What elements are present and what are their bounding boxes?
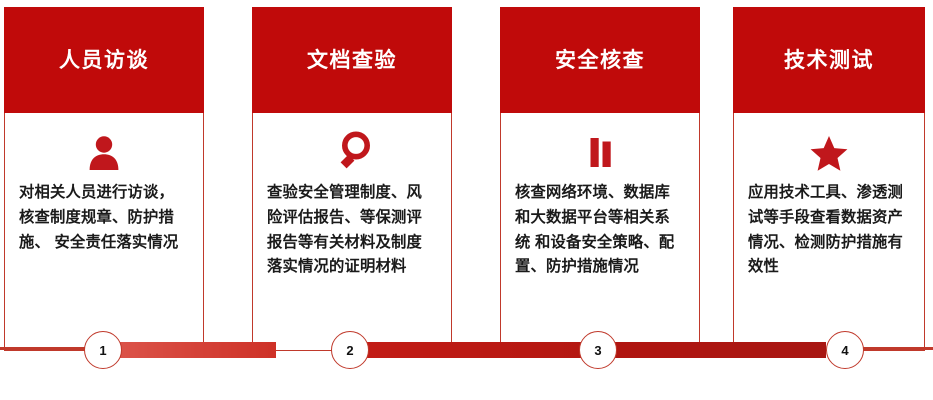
- step-text-4: 应用技术工具、渗透测试等手段查看数据资产情况、检测防护措施有效性: [748, 181, 910, 280]
- process-diagram: 人员访谈 对相关人员进行访谈，核查制度规章、防护措施、 安全责任落实情况 文档查…: [0, 0, 933, 400]
- step-body-2: 查验安全管理制度、风险评估报告、等保测评报告等有关材料及制度落实情况的证明材料: [252, 113, 452, 351]
- step-text-1: 对相关人员进行访谈，核查制度规章、防护措施、 安全责任落实情况: [19, 181, 189, 255]
- step-number-4: 4: [841, 344, 848, 357]
- step-title-4: 技术测试: [784, 50, 874, 71]
- rail-segment-3-4: [614, 342, 826, 358]
- step-body-4: 应用技术工具、渗透测试等手段查看数据资产情况、检测防护措施有效性: [733, 113, 925, 351]
- step-text-2: 查验安全管理制度、风险评估报告、等保测评报告等有关材料及制度落实情况的证明材料: [267, 181, 437, 280]
- rail-segment-1-2: [118, 342, 276, 358]
- step-header-3: 安全核查: [500, 7, 700, 113]
- step-number-3: 3: [594, 344, 601, 357]
- step-body-1: 对相关人员进行访谈，核查制度规章、防护措施、 安全责任落实情况: [4, 113, 204, 351]
- step-header-2: 文档查验: [252, 7, 452, 113]
- step-title-2: 文档查验: [307, 50, 397, 71]
- step-header-4: 技术测试: [733, 7, 925, 113]
- step-card-1[interactable]: 人员访谈 对相关人员进行访谈，核查制度规章、防护措施、 安全责任落实情况: [4, 7, 204, 351]
- rail-stub-right: [862, 347, 933, 350]
- step-body-3: 核查网络环境、数据库和大数据平台等相关系统 和设备安全策略、配置、防护措施情况: [500, 113, 700, 351]
- step-card-4[interactable]: 技术测试 应用技术工具、渗透测试等手段查看数据资产情况、检测防护措施有效性: [733, 7, 925, 351]
- person-icon: [19, 129, 189, 175]
- step-title-1: 人员访谈: [59, 50, 149, 71]
- rail-stub-left: [0, 347, 86, 350]
- rail-segment-2-3: [366, 342, 584, 358]
- step-node-3[interactable]: 3: [579, 331, 617, 369]
- pause-bars-icon: [515, 129, 685, 175]
- step-text-3: 核查网络环境、数据库和大数据平台等相关系统 和设备安全策略、配置、防护措施情况: [515, 181, 685, 280]
- step-node-1[interactable]: 1: [84, 331, 122, 369]
- step-connector-rail: 1 2 3 4: [0, 342, 933, 358]
- step-number-2: 2: [346, 344, 353, 357]
- step-card-3[interactable]: 安全核查 核查网络环境、数据库和大数据平台等相关系统 和设备安全策略、配置、防护…: [500, 7, 700, 351]
- step-header-1: 人员访谈: [4, 7, 204, 113]
- star-icon: [748, 129, 910, 175]
- step-title-3: 安全核查: [555, 50, 645, 71]
- step-card-2[interactable]: 文档查验 查验安全管理制度、风险评估报告、等保测评报告等有关材料及制度落实情况的…: [252, 7, 452, 351]
- magnifier-icon: [267, 129, 437, 175]
- step-number-1: 1: [99, 344, 106, 357]
- step-node-4[interactable]: 4: [826, 331, 864, 369]
- step-node-2[interactable]: 2: [331, 331, 369, 369]
